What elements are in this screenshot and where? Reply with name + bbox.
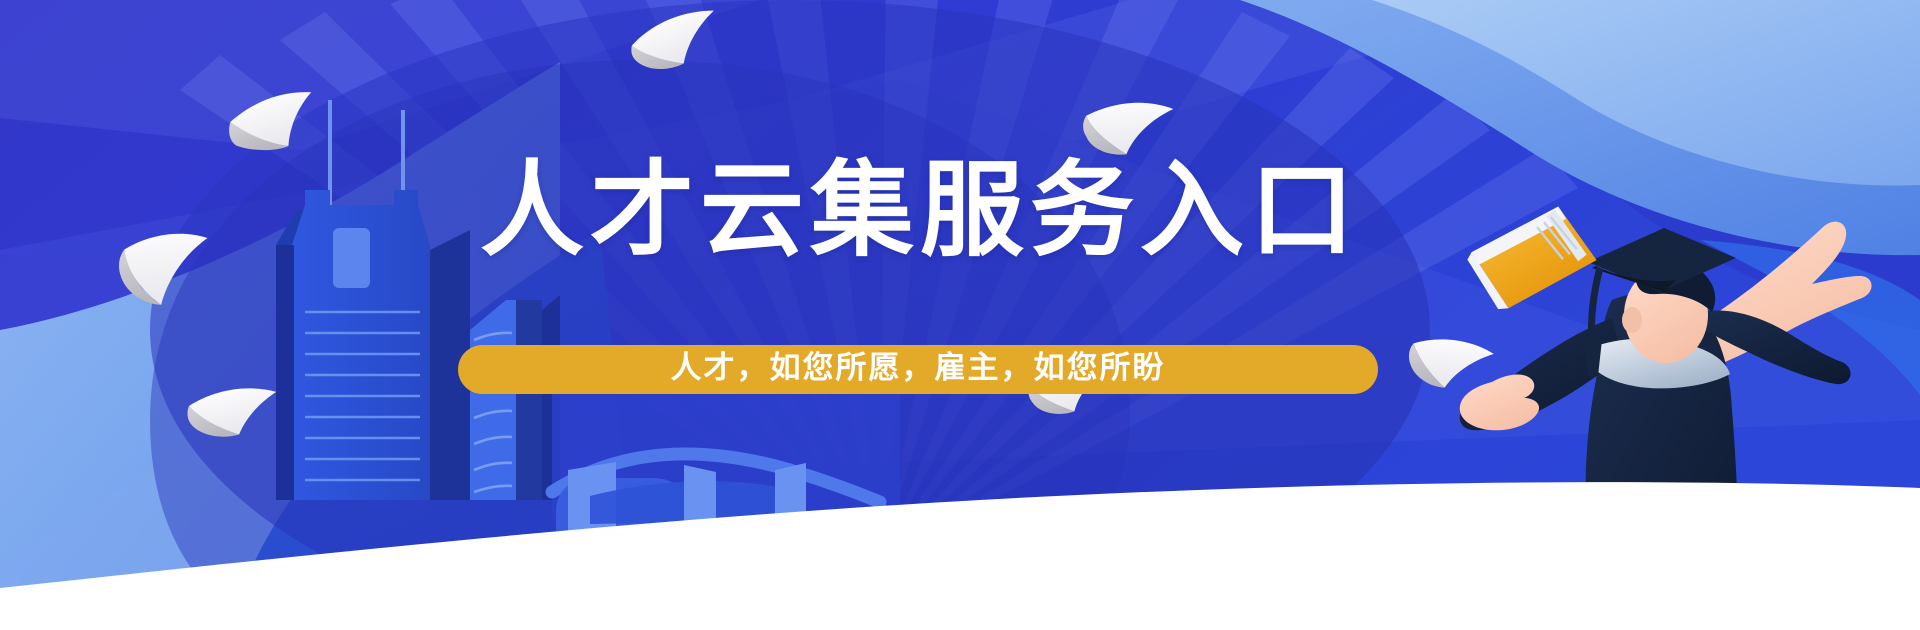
banner-illustration (0, 0, 1920, 630)
promo-banner: 人才云集服务入口 人才，如您所愿，雇主，如您所盼 (0, 0, 1920, 630)
tagline-badge[interactable]: 人才，如您所愿，雇主，如您所盼 (458, 345, 1378, 394)
tagline-text: 人才，如您所愿，雇主，如您所盼 (671, 353, 1166, 384)
